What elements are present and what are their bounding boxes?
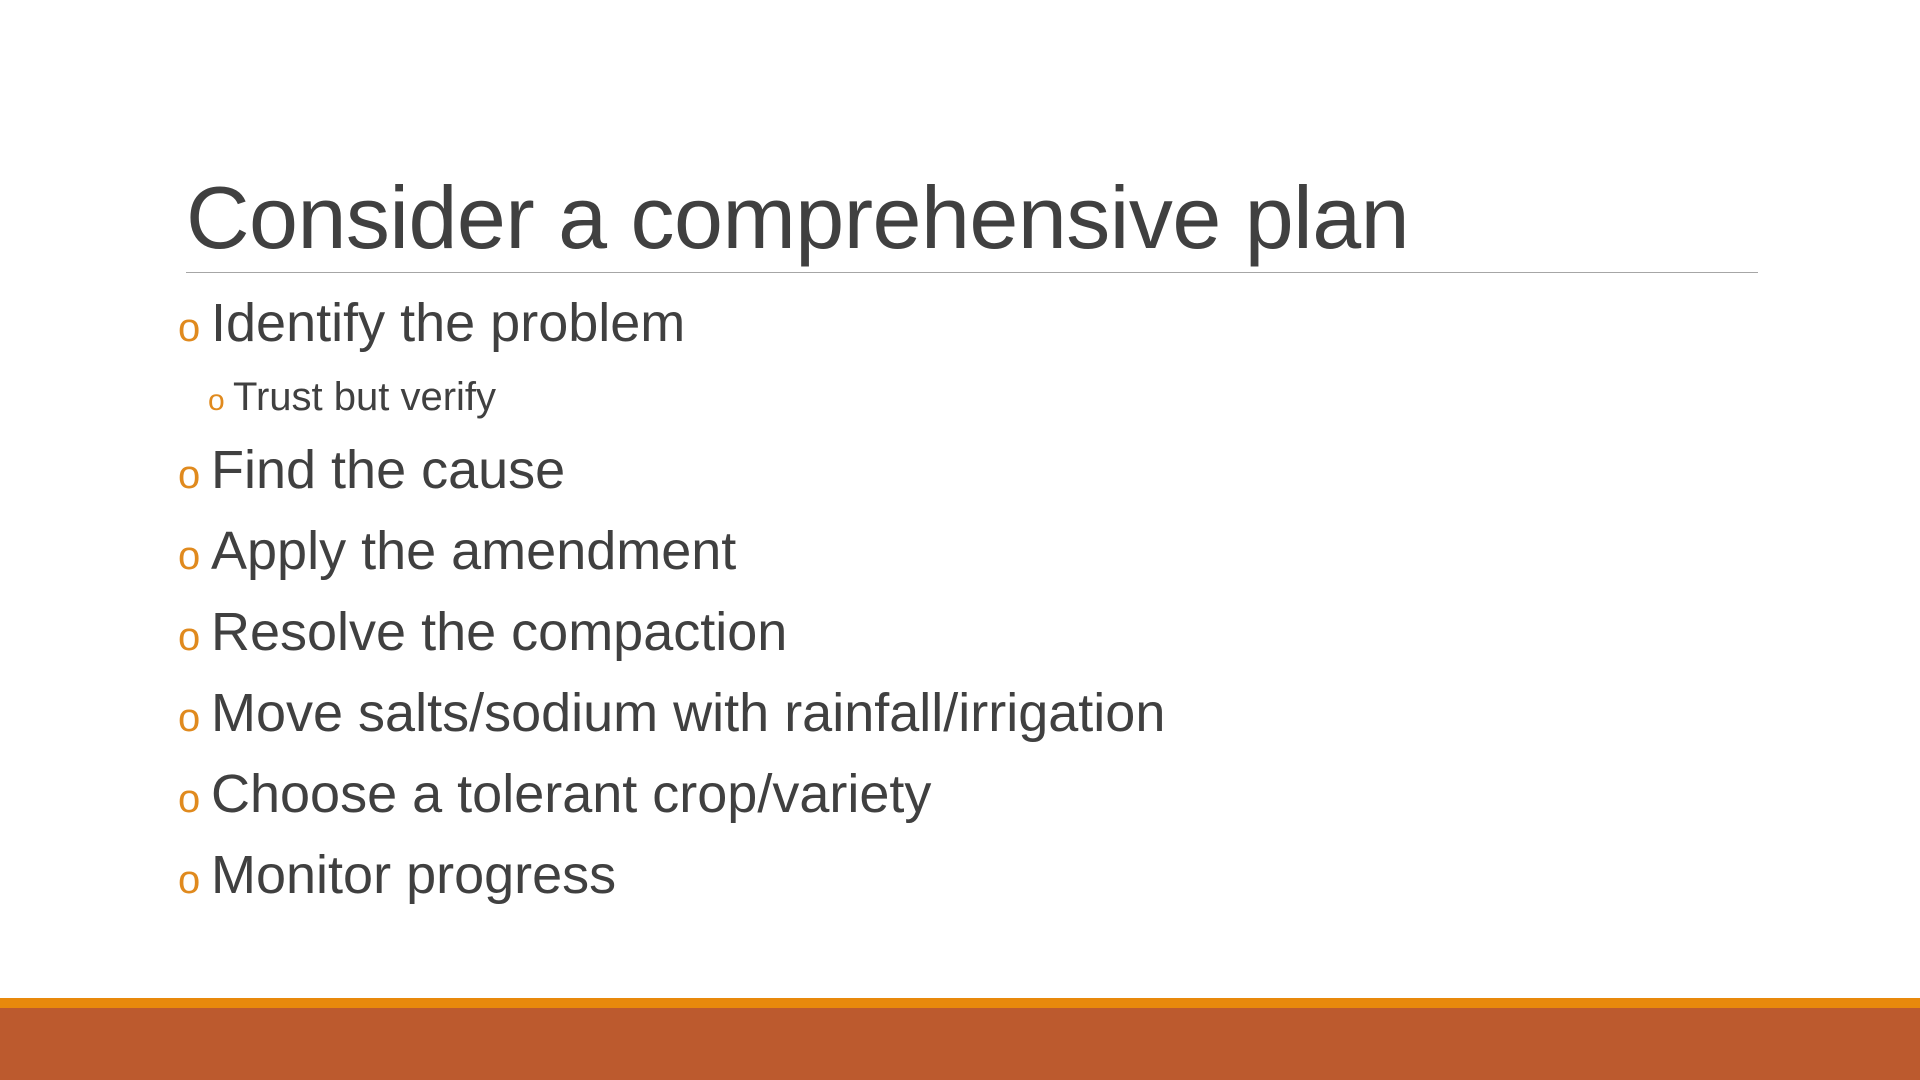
bullet-circle-icon: o xyxy=(178,290,211,366)
bullet-circle-icon: o xyxy=(178,437,211,513)
bullet-circle-icon: o xyxy=(178,599,211,675)
title-divider-rule xyxy=(186,272,1758,273)
bullet-circle-icon: o xyxy=(208,370,233,432)
list-item-label: Trust but verify xyxy=(233,366,496,428)
slide-canvas: Consider a comprehensive plan oIdentify … xyxy=(0,0,1920,1080)
footer-band-terracotta xyxy=(0,1008,1920,1080)
list-item[interactable]: oIdentify the problem xyxy=(178,285,1758,366)
list-item[interactable]: oMonitor progress xyxy=(178,837,1758,918)
list-item[interactable]: oTrust but verify xyxy=(208,366,1758,432)
list-item[interactable]: oMove salts/sodium with rainfall/irrigat… xyxy=(178,675,1758,756)
list-item-label: Find the cause xyxy=(211,432,565,508)
bullet-circle-icon: o xyxy=(178,680,211,756)
list-item[interactable]: oApply the amendment xyxy=(178,513,1758,594)
list-item[interactable]: oChoose a tolerant crop/variety xyxy=(178,756,1758,837)
list-item-label: Monitor progress xyxy=(211,837,616,913)
title-placeholder[interactable]: Consider a comprehensive plan xyxy=(186,152,1761,274)
list-item-label: Resolve the compaction xyxy=(211,594,787,670)
list-item-label: Apply the amendment xyxy=(211,513,736,589)
bullet-circle-icon: o xyxy=(178,842,211,918)
content-placeholder[interactable]: oIdentify the problemoTrust but verifyoF… xyxy=(178,285,1758,918)
list-item-label: Move salts/sodium with rainfall/irrigati… xyxy=(211,675,1165,751)
page-title: Consider a comprehensive plan xyxy=(186,174,1409,262)
bullet-circle-icon: o xyxy=(178,761,211,837)
list-item-label: Choose a tolerant crop/variety xyxy=(211,756,931,832)
bullet-circle-icon: o xyxy=(178,518,211,594)
list-item[interactable]: oFind the cause xyxy=(178,432,1758,513)
footer-band-orange xyxy=(0,998,1920,1008)
list-item[interactable]: oResolve the compaction xyxy=(178,594,1758,675)
list-item-label: Identify the problem xyxy=(211,285,685,361)
